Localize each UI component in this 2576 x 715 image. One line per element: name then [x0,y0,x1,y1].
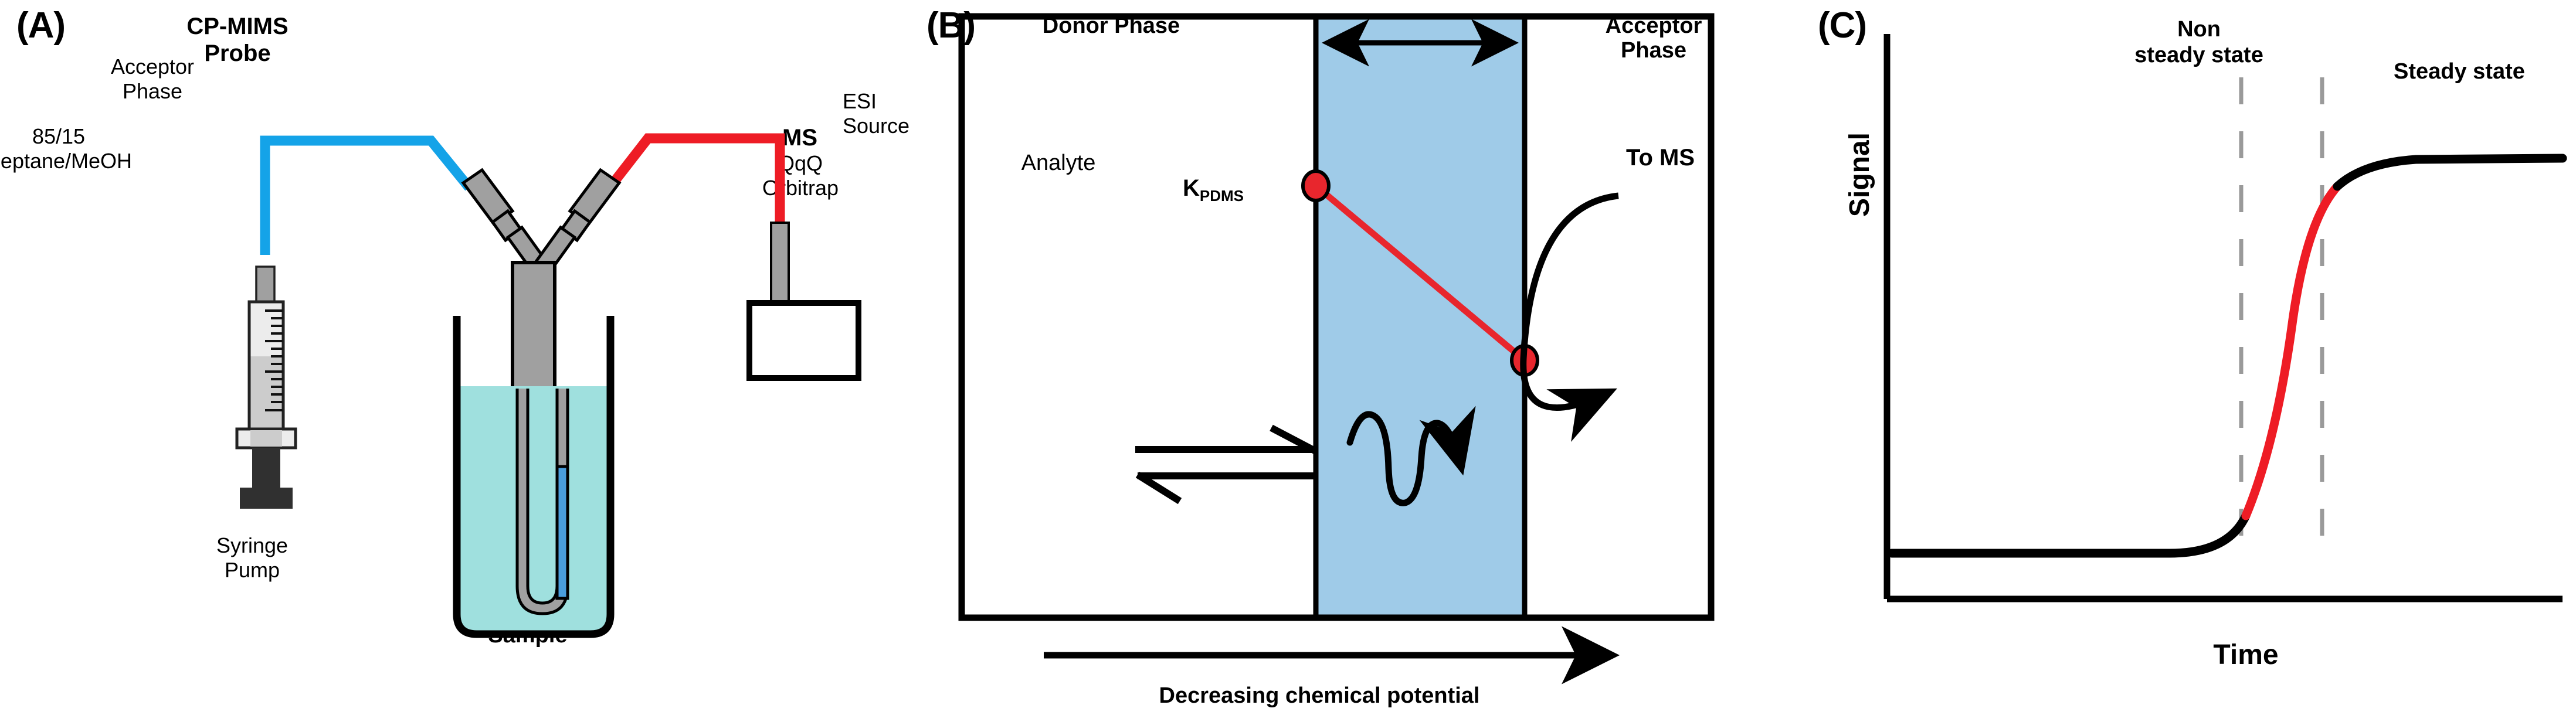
membrane-header: Membrane [1315,13,1526,39]
solvent-label-line2: Heptane/MeOH [0,149,147,173]
non-steady-state-annotation-line1: Non [2111,16,2287,42]
syringe [237,267,296,509]
non-steady-state-annotation-line2: steady state [2111,42,2287,68]
acceptor-phase-header-line1: Acceptor [1536,13,1771,39]
diffusion-coefficient-subscript: PDMS [1377,187,1421,205]
partition-coefficient-label: KPDMS [1183,175,1244,205]
ms-box-label: MS [746,124,854,151]
analyte-equilibrium-arrows [1135,428,1316,501]
panel-c-label: (C) [1818,5,1866,46]
analyte-label: Analyte [991,150,1126,176]
panel-b-box [962,16,1711,618]
diffusion-wave-arrow [1350,414,1460,503]
partition-coefficient-subscript: PDMS [1200,187,1244,205]
decreasing-chemical-potential-label: Decreasing chemical potential [1014,683,1624,709]
panel-b-label: (B) [926,5,975,46]
acceptor-phase-label-line1: Acceptor [56,55,249,79]
beaker [457,316,610,634]
probe-u-tube [517,389,568,614]
solvent-label-line1: 85/15 [0,124,147,149]
probe-right-arm [529,170,619,281]
acceptor-flow-arrow [1523,196,1618,408]
figure-vector-layer [0,0,2576,715]
sample-label: Sample [457,622,598,648]
ms-type-label-line1: QqQ [736,151,865,176]
signal-baseline-curve [1892,516,2246,553]
to-ms-label: To MS [1626,144,1695,171]
diffusion-coefficient-base: D [1360,175,1377,201]
gradient-node-acceptor-side [1512,346,1538,375]
esi-needle [771,223,789,305]
acceptor-phase-tubing [265,141,469,255]
probe-body [513,263,555,389]
partition-coefficient-base: K [1183,175,1200,201]
ms-box [749,303,858,378]
membrane-boundaries [1316,16,1525,618]
cp-mims-probe-title-line1: CP-MIMS [114,13,361,40]
esi-source-label-line1: ESI [843,89,877,114]
figure-root: (A) CP-MIMS Probe Acceptor Phase 85/15 H… [0,0,2576,715]
signal-rise-curve [2246,186,2337,516]
steady-state-annotation: Steady state [2394,59,2525,84]
panel-a-label: (A) [16,5,65,46]
diffusion-coefficient-label: DPDMS [1360,175,1421,205]
signal-axis-label: Signal [1844,132,1876,217]
probe-left-arm [463,170,554,281]
syringe-pump-label-line2: Pump [176,558,328,583]
non-steady-state-dividers [2241,77,2322,558]
donor-phase-header: Donor Phase [985,13,1237,39]
time-axis-label: Time [2158,639,2334,672]
membrane-thickness-label: l [1379,36,1461,62]
acceptor-phase-label-line2: Phase [56,79,249,104]
syringe-graduations [265,311,283,410]
ms-type-label-line2: Orbitrap [736,176,865,200]
gradient-node-donor-side [1303,171,1329,200]
acceptor-phase-header-line2: Phase [1536,38,1771,63]
signal-plateau-curve [2337,158,2563,186]
membrane-region [1316,16,1525,618]
syringe-pump-label-line1: Syringe [176,533,328,558]
